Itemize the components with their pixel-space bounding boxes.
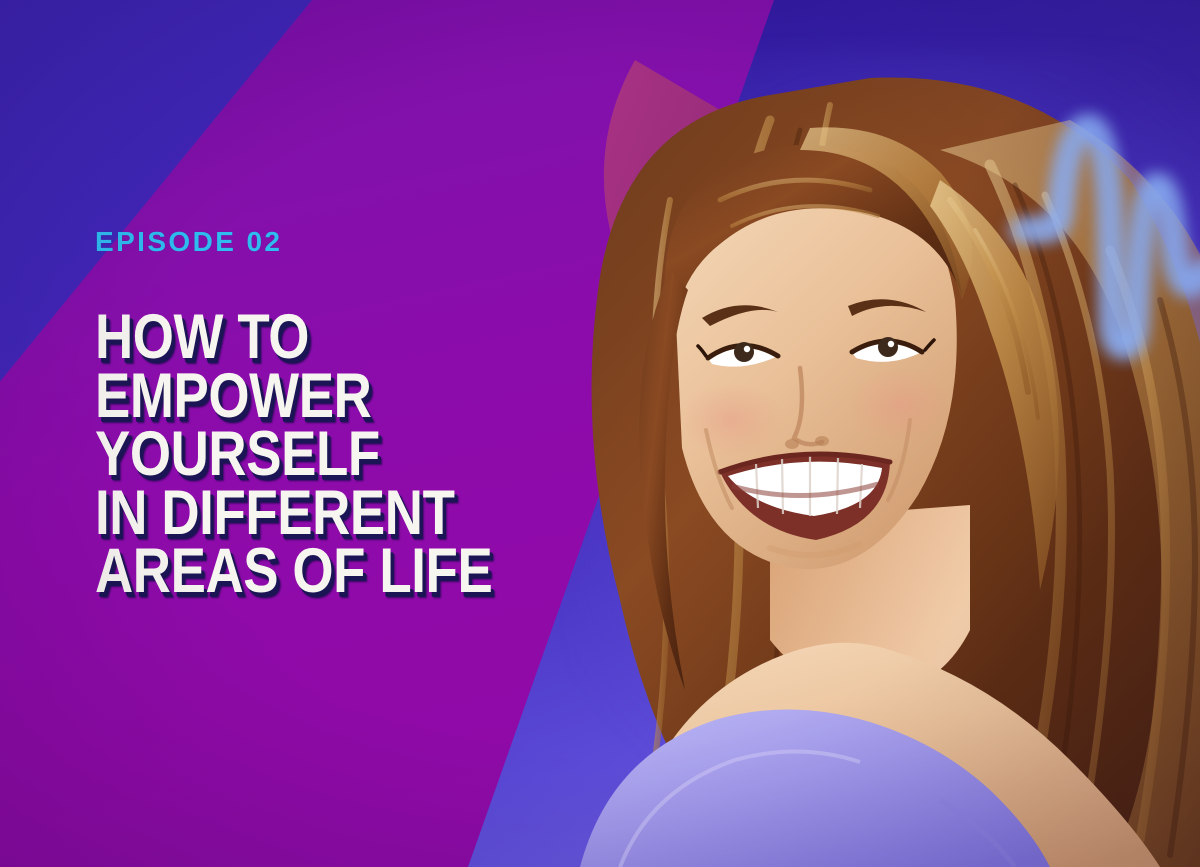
episode-label: EPISODE 02 <box>95 228 635 256</box>
audio-waveform-icon <box>1030 80 1200 410</box>
headline-line-2: EMPOWER YOURSELF <box>95 367 549 484</box>
podcast-episode-cover: EPISODE 02 HOW TO EMPOWER YOURSELF IN DI… <box>0 0 1200 867</box>
text-block: EPISODE 02 HOW TO EMPOWER YOURSELF IN DI… <box>95 228 635 601</box>
headline-line-4: AREAS OF LIFE <box>95 542 549 601</box>
headline-line-1: HOW TO <box>95 308 549 367</box>
headline-line-3: IN DIFFERENT <box>95 484 549 543</box>
page-title: HOW TO EMPOWER YOURSELF IN DIFFERENT ARE… <box>95 308 549 601</box>
